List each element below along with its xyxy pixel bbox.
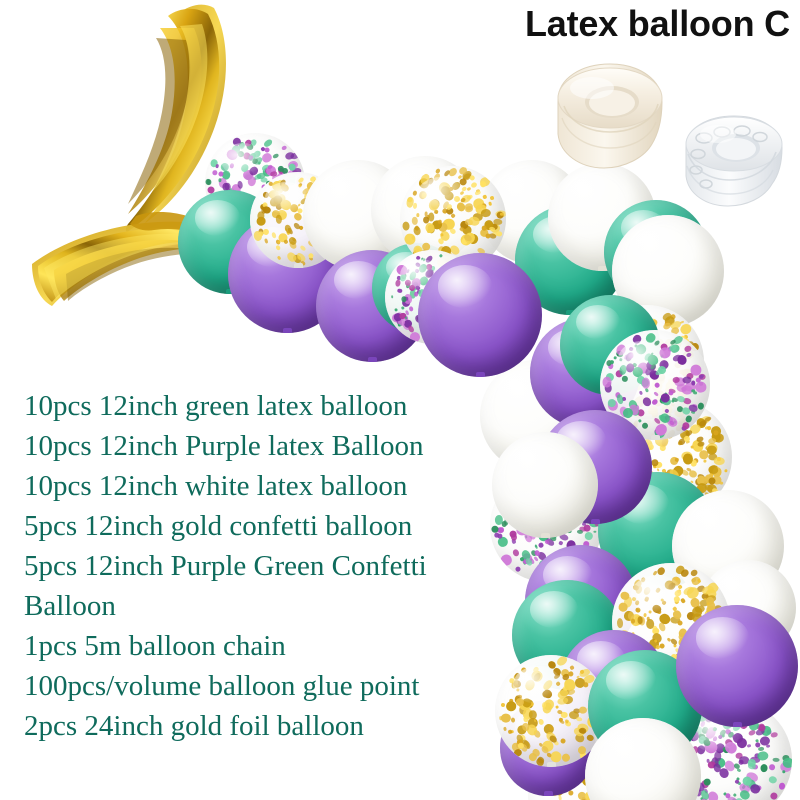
spec-list-item: 2pcs 24inch gold foil balloon	[24, 706, 494, 746]
spec-list-item: Balloon	[24, 586, 494, 626]
balloon-knot	[544, 791, 553, 796]
spec-list-item: 100pcs/volume balloon glue point	[24, 666, 494, 706]
balloon-glue-point-roll-cream	[548, 62, 670, 174]
balloon-glue-point-roll-clear	[680, 112, 788, 212]
spec-list-item: 10pcs 12inch Purple latex Balloon	[24, 426, 494, 466]
balloon-knot	[294, 263, 303, 268]
balloon-white	[492, 432, 598, 538]
balloon-knot	[368, 357, 377, 362]
balloon-purple	[676, 605, 798, 727]
spec-list-item: 5pcs 12inch Purple Green Confetti	[24, 546, 494, 586]
spec-list-item: 5pcs 12inch gold confetti balloon	[24, 506, 494, 546]
spec-list-item: 1pcs 5m balloon chain	[24, 626, 494, 666]
spec-list-item: 10pcs 12inch white latex balloon	[24, 466, 494, 506]
balloon-knot	[283, 328, 292, 333]
balloon-knot	[651, 435, 660, 440]
page-title: Latex balloon C	[525, 2, 790, 46]
product-spec-list: 10pcs 12inch green latex balloon 10pcs 1…	[24, 386, 494, 746]
balloon-purple	[418, 253, 542, 377]
balloon-knot	[547, 762, 556, 767]
spec-list-item: 10pcs 12inch green latex balloon	[24, 386, 494, 426]
balloon-knot	[541, 533, 550, 538]
product-image-canvas: Latex balloon C 10pcs 12inch green latex…	[0, 0, 800, 800]
balloon-knot	[733, 722, 742, 727]
balloon-knot	[591, 519, 600, 524]
balloon-knot	[476, 372, 485, 377]
